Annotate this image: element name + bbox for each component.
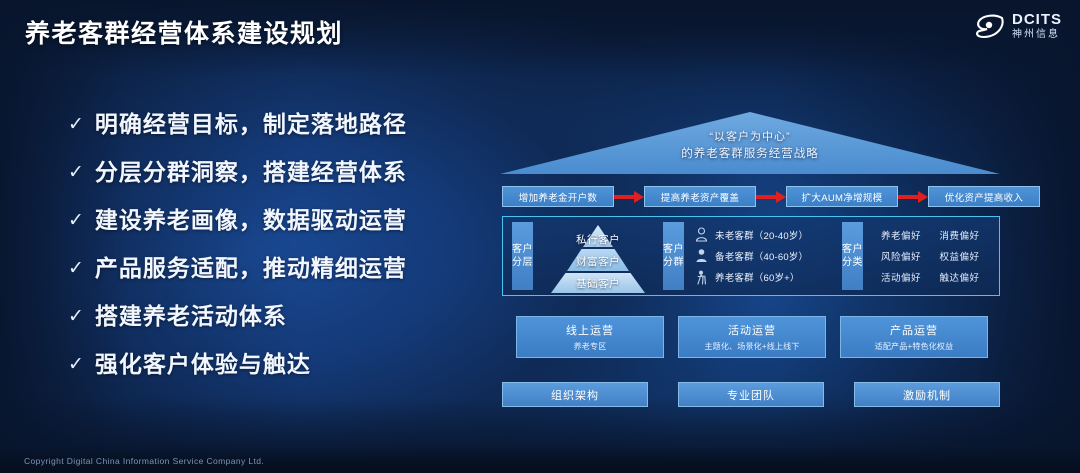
pyramid-tier-2: 财富客户 (537, 254, 659, 269)
segment-row: 备老客群（40-60岁） (695, 248, 838, 263)
roof-slogan: “以客户为中心” 的养老客群服务经营战略 (500, 129, 1000, 163)
foundation-row: 组织架构 专业团队 激励机制 (502, 382, 1000, 407)
check-icon: ✓ (68, 115, 84, 134)
pyramid-tier-1: 私行客户 (537, 232, 659, 247)
check-icon: ✓ (68, 355, 84, 374)
logo-wordmark: DCITS 神州信息 (1012, 12, 1062, 40)
label-customer-class: 客户分类 (842, 222, 863, 290)
label-customer-tier: 客户分层 (512, 222, 533, 290)
brand-logo: DCITS 神州信息 (975, 12, 1062, 40)
label-customer-group: 客户分群 (663, 222, 684, 290)
bullet-text: 搭建养老活动体系 (95, 297, 287, 331)
foundation-card-team[interactable]: 专业团队 (678, 382, 824, 407)
check-icon: ✓ (68, 259, 84, 278)
header: 养老客群经营体系建设规划 DCITS 神州信息 (0, 0, 1080, 58)
operation-card-product[interactable]: 产品运营 适配产品+特色化权益 (840, 316, 988, 358)
roof-slogan-line2: 的养老客群服务经营战略 (500, 146, 1000, 163)
customer-core-panel: 客户分层 私行客户 财富客户 (502, 216, 1000, 296)
check-icon: ✓ (68, 163, 84, 182)
preference-cell: 权益偏好 (934, 249, 993, 263)
dcits-swirl-icon (975, 13, 1005, 39)
bullet-text: 强化客户体验与触达 (95, 345, 311, 379)
bullet-text: 明确经营目标，制定落地路径 (95, 105, 407, 139)
customer-tier-pyramid: 私行客户 财富客户 基础客户 (537, 221, 659, 291)
customer-segment-list: 未老客群（20-40岁） 备老客群（40-60岁） (688, 221, 838, 291)
operation-card-online[interactable]: 线上运营 养老专区 (516, 316, 664, 358)
middle-aged-person-icon (695, 248, 708, 263)
segment-label: 养老客群（60岁+） (715, 270, 800, 284)
bullet-item: ✓ 分层分群洞察，搭建经营体系 (68, 153, 468, 187)
foundation-card-org[interactable]: 组织架构 (502, 382, 648, 407)
goal-row: 增加养老金开户数 提高养老资产覆盖 扩大AUM净增规模 优化资产提高收入 (502, 186, 1000, 207)
check-icon: ✓ (68, 211, 84, 230)
pyramid-tier-3: 基础客户 (537, 276, 659, 291)
preference-cell: 触达偏好 (934, 270, 993, 284)
preference-grid: 养老偏好 消费偏好 风险偏好 权益偏好 活动偏好 触达偏好 (867, 221, 994, 291)
bullet-text: 分层分群洞察，搭建经营体系 (95, 153, 407, 187)
bullet-list: ✓ 明确经营目标，制定落地路径 ✓ 分层分群洞察，搭建经营体系 ✓ 建设养老画像… (68, 105, 468, 393)
bullet-text: 建设养老画像，数据驱动运营 (95, 201, 407, 235)
foundation-card-incentive[interactable]: 激励机制 (854, 382, 1000, 407)
segment-row: 养老客群（60岁+） (695, 270, 838, 285)
preference-cell: 养老偏好 (875, 228, 934, 242)
segment-label: 备老客群（40-60岁） (715, 249, 808, 263)
copyright-text: Copyright Digital China Information Serv… (24, 456, 264, 466)
operation-title: 产品运营 (890, 322, 938, 338)
preference-row: 养老偏好 消费偏好 (875, 228, 992, 242)
logo-en-text: DCITS (1012, 12, 1062, 27)
logo-cn-text: 神州信息 (1012, 30, 1062, 40)
check-icon: ✓ (68, 307, 84, 326)
preference-cell: 消费偏好 (934, 228, 993, 242)
preference-cell: 活动偏好 (875, 270, 934, 284)
operation-subtitle: 主题化、场景化+线上线下 (704, 341, 799, 352)
bullet-item: ✓ 明确经营目标，制定落地路径 (68, 105, 468, 139)
arrow-right-icon (756, 191, 786, 203)
preference-row: 风险偏好 权益偏好 (875, 249, 992, 263)
operation-title: 线上运营 (566, 322, 614, 338)
bullet-text: 产品服务适配，推动精细运营 (95, 249, 407, 283)
arrow-right-icon (614, 191, 644, 203)
operation-title: 活动运营 (728, 322, 776, 338)
goal-box-1[interactable]: 增加养老金开户数 (502, 186, 614, 207)
young-person-icon (695, 227, 708, 242)
segment-row: 未老客群（20-40岁） (695, 227, 838, 242)
elderly-person-icon (695, 270, 708, 285)
goal-box-4[interactable]: 优化资产提高收入 (928, 186, 1040, 207)
operations-row: 线上运营 养老专区 活动运营 主题化、场景化+线上线下 产品运营 适配产品+特色… (516, 316, 988, 358)
operation-subtitle: 适配产品+特色化权益 (875, 341, 954, 352)
strategy-roof: “以客户为中心” 的养老客群服务经营战略 (500, 108, 1000, 180)
bullet-item: ✓ 建设养老画像，数据驱动运营 (68, 201, 468, 235)
arrow-right-icon (898, 191, 928, 203)
bullet-item: ✓ 搭建养老活动体系 (68, 297, 468, 331)
segment-label: 未老客群（20-40岁） (715, 228, 808, 242)
roof-slogan-line1: “以客户为中心” (500, 129, 1000, 146)
preference-cell: 风险偏好 (875, 249, 934, 263)
page-title: 养老客群经营体系建设规划 (25, 14, 343, 50)
preference-row: 活动偏好 触达偏好 (875, 270, 992, 284)
operation-card-activity[interactable]: 活动运营 主题化、场景化+线上线下 (678, 316, 826, 358)
operation-subtitle: 养老专区 (574, 341, 607, 352)
goal-box-3[interactable]: 扩大AUM净增规模 (786, 186, 898, 207)
goal-box-2[interactable]: 提高养老资产覆盖 (644, 186, 756, 207)
bullet-item: ✓ 产品服务适配，推动精细运营 (68, 249, 468, 283)
strategy-diagram: “以客户为中心” 的养老客群服务经营战略 增加养老金开户数 提高养老资产覆盖 扩… (490, 90, 1010, 430)
bullet-item: ✓ 强化客户体验与触达 (68, 345, 468, 379)
